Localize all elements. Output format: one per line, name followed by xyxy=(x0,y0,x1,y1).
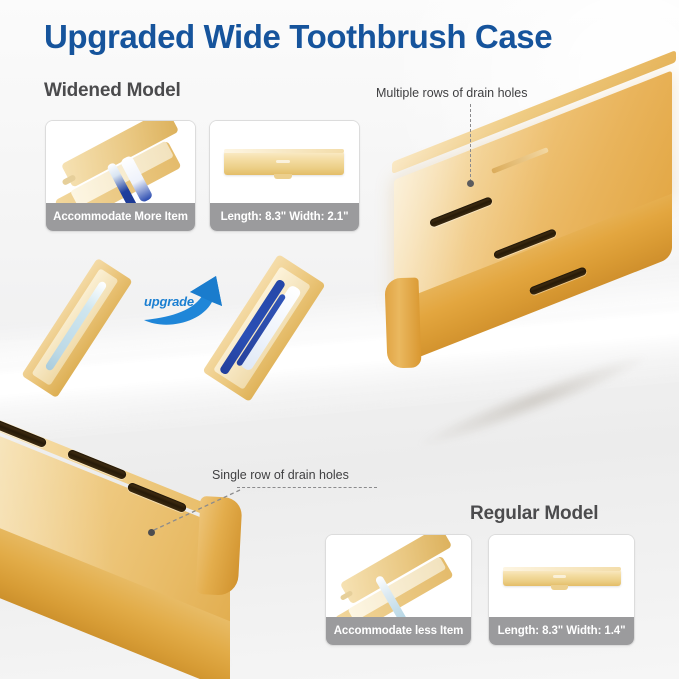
annotation-multiple-rows: Multiple rows of drain holes xyxy=(376,86,527,100)
card-image-closed-case-wide xyxy=(210,121,359,203)
card-regular-dimensions[interactable]: Length: 8.3" Width: 1.4" xyxy=(488,534,635,646)
case-logo-mark xyxy=(276,160,290,163)
card-caption: Accommodate More Item xyxy=(46,203,195,231)
leader-line-diagonal xyxy=(150,488,242,532)
annotation-single-row: Single row of drain holes xyxy=(212,468,349,482)
case-logo-mark xyxy=(553,575,566,578)
leader-line-horizontal xyxy=(237,487,377,488)
leader-dot xyxy=(148,529,155,536)
card-caption: Accommodate less Item xyxy=(326,617,471,645)
page-title: Upgraded Wide Toothbrush Case xyxy=(44,18,644,56)
case-latch xyxy=(551,585,568,590)
section-heading-regular: Regular Model xyxy=(470,503,598,525)
infographic-canvas: Upgraded Wide Toothbrush Case Widened Mo… xyxy=(0,0,679,679)
leader-dot xyxy=(467,180,474,187)
leader-line-vertical xyxy=(470,104,471,182)
card-image-open-case-narrow xyxy=(326,535,471,617)
case-body-side-view xyxy=(224,151,344,175)
upgrade-arrow-group: upgrade xyxy=(138,268,238,330)
section-heading-widened: Widened Model xyxy=(44,80,181,102)
card-image-open-case-wide xyxy=(46,121,195,203)
upgrade-label: upgrade xyxy=(144,294,194,309)
case-latch xyxy=(274,174,292,179)
card-caption: Length: 8.3" Width: 2.1" xyxy=(210,203,359,231)
widened-case-hero-image xyxy=(388,88,679,388)
hero-case-end-cap xyxy=(384,277,421,368)
card-widened-dimensions[interactable]: Length: 8.3" Width: 2.1" xyxy=(209,120,360,232)
card-image-closed-case-narrow xyxy=(489,535,634,617)
card-caption: Length: 8.3" Width: 1.4" xyxy=(489,617,634,645)
card-accommodate-more-item[interactable]: Accommodate More Item xyxy=(45,120,196,232)
card-accommodate-less-item[interactable]: Accommodate less Item xyxy=(325,534,472,646)
case-lid-edge xyxy=(224,149,344,153)
case-lid-edge xyxy=(503,567,621,571)
